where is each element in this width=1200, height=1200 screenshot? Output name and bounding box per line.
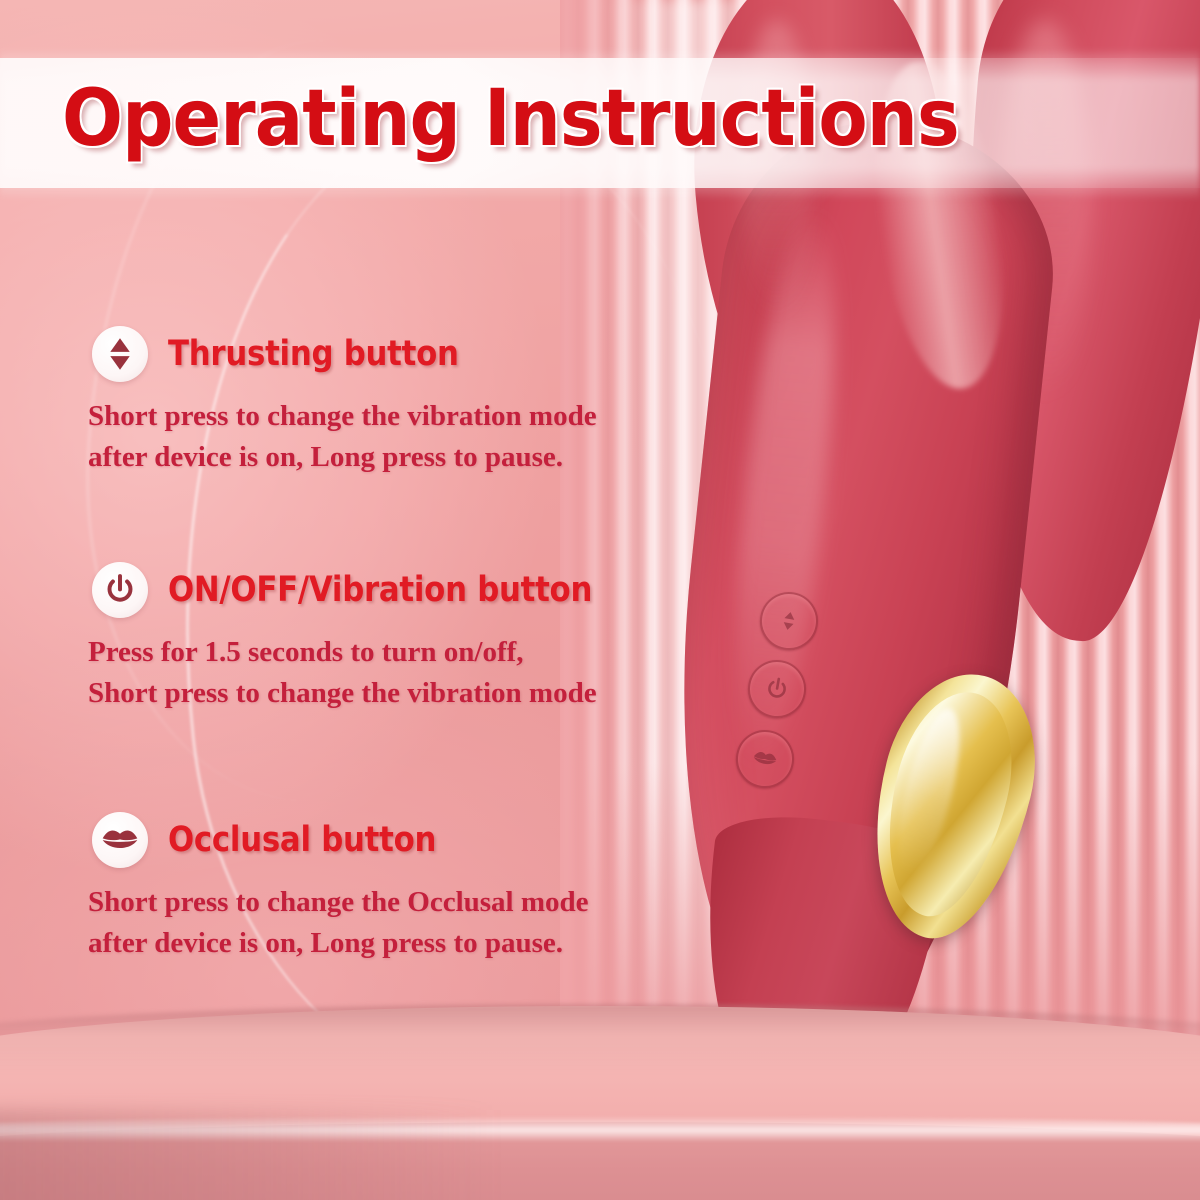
thrusting-icon-badge xyxy=(92,326,148,382)
pedestal-back-edge xyxy=(0,1004,1200,1074)
instruction-line-1: Press for 1.5 seconds to turn on/off, xyxy=(88,632,660,673)
instruction-item-occlusal: Occlusal button Short press to change th… xyxy=(0,812,660,964)
instruction-line-1: Short press to change the Occlusal mode xyxy=(88,882,660,923)
instruction-title: ON/OFF/Vibration button xyxy=(168,570,592,610)
instruction-line-2: after device is on, Long press to pause. xyxy=(88,923,660,964)
instruction-header: Thrusting button xyxy=(0,326,660,382)
instruction-item-power: ON/OFF/Vibration button Press for 1.5 se… xyxy=(0,562,660,714)
instruction-description: Press for 1.5 seconds to turn on/off, Sh… xyxy=(0,632,660,714)
instruction-description: Short press to change the vibration mode… xyxy=(0,396,660,478)
lips-icon xyxy=(750,747,779,771)
instruction-header: Occlusal button xyxy=(0,812,660,868)
instruction-title: Occlusal button xyxy=(168,820,436,860)
lips-icon-badge xyxy=(92,812,148,868)
instruction-description: Short press to change the Occlusal mode … xyxy=(0,882,660,964)
power-icon xyxy=(762,674,792,704)
lips-icon xyxy=(101,827,139,853)
instruction-title: Thrusting button xyxy=(168,334,459,374)
power-icon xyxy=(103,573,137,607)
pedestal-left-shadow xyxy=(0,1110,500,1200)
instruction-header: ON/OFF/Vibration button xyxy=(0,562,660,618)
product-instruction-poster: Operating Instructions Thrusting button … xyxy=(0,0,1200,1200)
instruction-line-2: Short press to change the vibration mode xyxy=(88,673,660,714)
power-icon-badge xyxy=(92,562,148,618)
instruction-line-2: after device is on, Long press to pause. xyxy=(88,437,660,478)
up-down-arrows-icon xyxy=(775,607,803,635)
instruction-item-thrusting: Thrusting button Short press to change t… xyxy=(0,326,660,478)
instruction-line-1: Short press to change the vibration mode xyxy=(88,396,660,437)
page-title: Operating Instructions xyxy=(62,74,959,164)
up-down-arrows-icon xyxy=(105,337,135,371)
